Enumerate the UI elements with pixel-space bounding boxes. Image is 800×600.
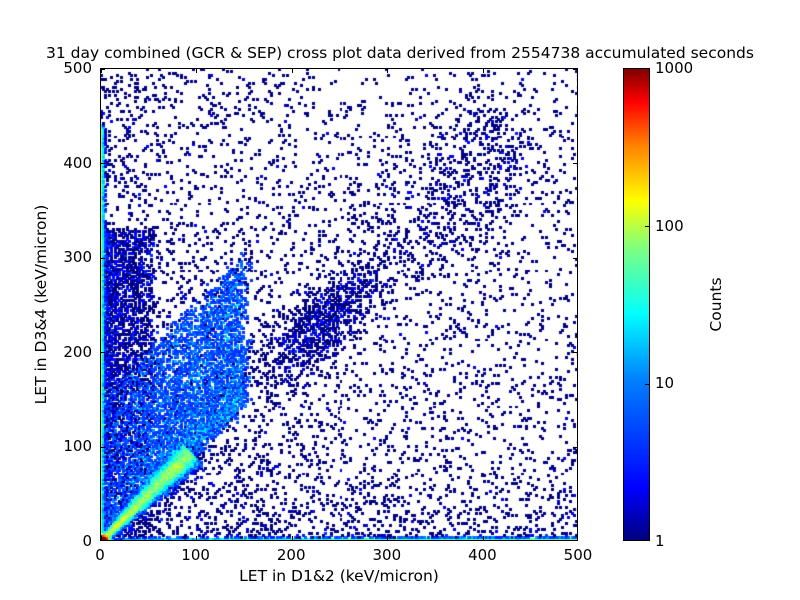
- x-tick-400: [483, 536, 484, 541]
- y-tick-label-300: 300: [63, 248, 92, 266]
- x-tick-top-300: [387, 68, 388, 73]
- colorbar-tick-label-100: 100: [655, 217, 684, 235]
- x-tick-label-100: 100: [181, 546, 210, 564]
- x-tick-label-0: 0: [95, 546, 105, 564]
- y-tick-label-100: 100: [63, 437, 92, 455]
- x-tick-top-200: [292, 68, 293, 73]
- y-tick-300: [100, 258, 105, 259]
- colorbar-tick-10: [645, 384, 650, 385]
- colorbar-label: Counts: [707, 68, 725, 541]
- y-tick-500: [100, 68, 105, 69]
- y-tick-label-500: 500: [63, 59, 92, 77]
- y-tick-right-100: [573, 447, 578, 448]
- x-tick-0: [100, 536, 101, 541]
- colorbar-tick-label-10: 10: [655, 374, 674, 392]
- colorbar-tick-label-1000: 1000: [655, 59, 693, 77]
- y-tick-label-0: 0: [82, 532, 92, 550]
- x-tick-label-300: 300: [372, 546, 401, 564]
- figure-canvas: 31 day combined (GCR & SEP) cross plot d…: [0, 0, 800, 600]
- x-tick-300: [387, 536, 388, 541]
- plot-area[interactable]: [100, 68, 578, 541]
- y-tick-200: [100, 352, 105, 353]
- colorbar-tick-100: [645, 226, 650, 227]
- x-tick-100: [196, 536, 197, 541]
- colorbar-tick-label-1: 1: [655, 532, 665, 550]
- y-tick-right-400: [573, 163, 578, 164]
- y-tick-label-400: 400: [63, 154, 92, 172]
- x-axis-label: LET in D1&2 (keV/micron): [100, 567, 578, 585]
- scatter-density-plot: [101, 69, 578, 541]
- x-tick-200: [292, 536, 293, 541]
- x-tick-label-500: 500: [564, 546, 593, 564]
- colorbar[interactable]: [623, 68, 650, 541]
- y-tick-label-200: 200: [63, 343, 92, 361]
- y-tick-400: [100, 163, 105, 164]
- x-tick-top-100: [196, 68, 197, 73]
- x-tick-label-200: 200: [277, 546, 306, 564]
- y-tick-right-300: [573, 258, 578, 259]
- x-tick-label-400: 400: [468, 546, 497, 564]
- y-tick-right-500: [573, 68, 578, 69]
- y-axis-label: LET in D3&4 (keV/micron): [32, 68, 50, 541]
- x-tick-top-400: [483, 68, 484, 73]
- y-tick-right-200: [573, 352, 578, 353]
- y-tick-100: [100, 447, 105, 448]
